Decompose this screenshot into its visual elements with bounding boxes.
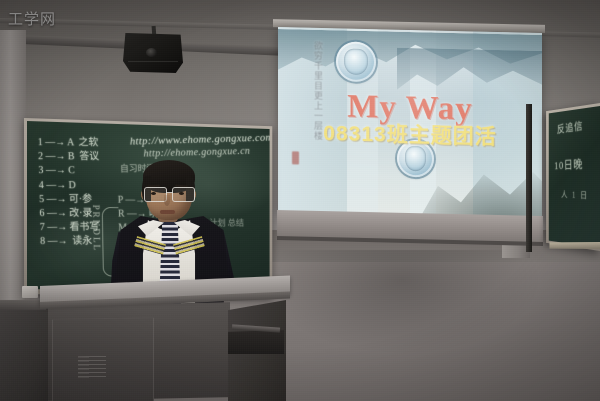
blackboard-right-line-1: 反追信 (557, 121, 584, 135)
glasses-lens-right (172, 187, 195, 202)
glasses-bridge (166, 192, 173, 193)
floor-shadow (270, 250, 600, 401)
blackboard-list-item: 4 —→ D (39, 179, 100, 193)
presenter-eye-left (151, 192, 156, 195)
blackboard-right-chalk-tray (549, 242, 600, 249)
slide-title-sub: 08313班主题团活 (294, 122, 526, 148)
blackboard-right-edge (526, 104, 532, 252)
blackboard-right: 反追信 10日晚 人 1 日 (549, 106, 600, 248)
metal-cabinet (0, 306, 48, 401)
presenter-nose (164, 195, 170, 206)
emblem-inner-vase-icon (344, 48, 367, 75)
speaker-seam (128, 61, 178, 62)
emblem-inner-vase-icon (405, 146, 426, 171)
projection-screen: 欲穷千里目更上一层楼 My Way 08313班主题团活 (278, 27, 542, 218)
presenter-eye-right (179, 192, 184, 195)
desk-drawer-gap (228, 330, 284, 354)
wall-pillar-left (0, 30, 26, 300)
classroom-photo: 欲穷千里目更上一层楼 My Way 08313班主题团活 http://www.… (0, 0, 600, 401)
blackboard-right-line-2: 10日晚 (554, 158, 583, 171)
circular-vase-emblem-icon (336, 41, 376, 82)
slide-seal-stamp (292, 151, 299, 164)
speaker-cone-icon (146, 48, 157, 57)
presenter-mouth (160, 210, 175, 214)
blackboard-list-item: 3 —→ C (38, 164, 99, 178)
desk-small-box (22, 286, 38, 298)
blackboard-right-line-3: 人 1 日 (561, 191, 589, 201)
blackboard-list-item: 1 —→ A 之软 (38, 136, 99, 151)
blackboard-vertical-label: P R N D L L (90, 205, 102, 250)
desk-vent-slits (78, 356, 106, 378)
blackboard-list-item: 2 —→ B 答议 (38, 150, 99, 164)
watermark-text: 工学网 (8, 8, 56, 29)
